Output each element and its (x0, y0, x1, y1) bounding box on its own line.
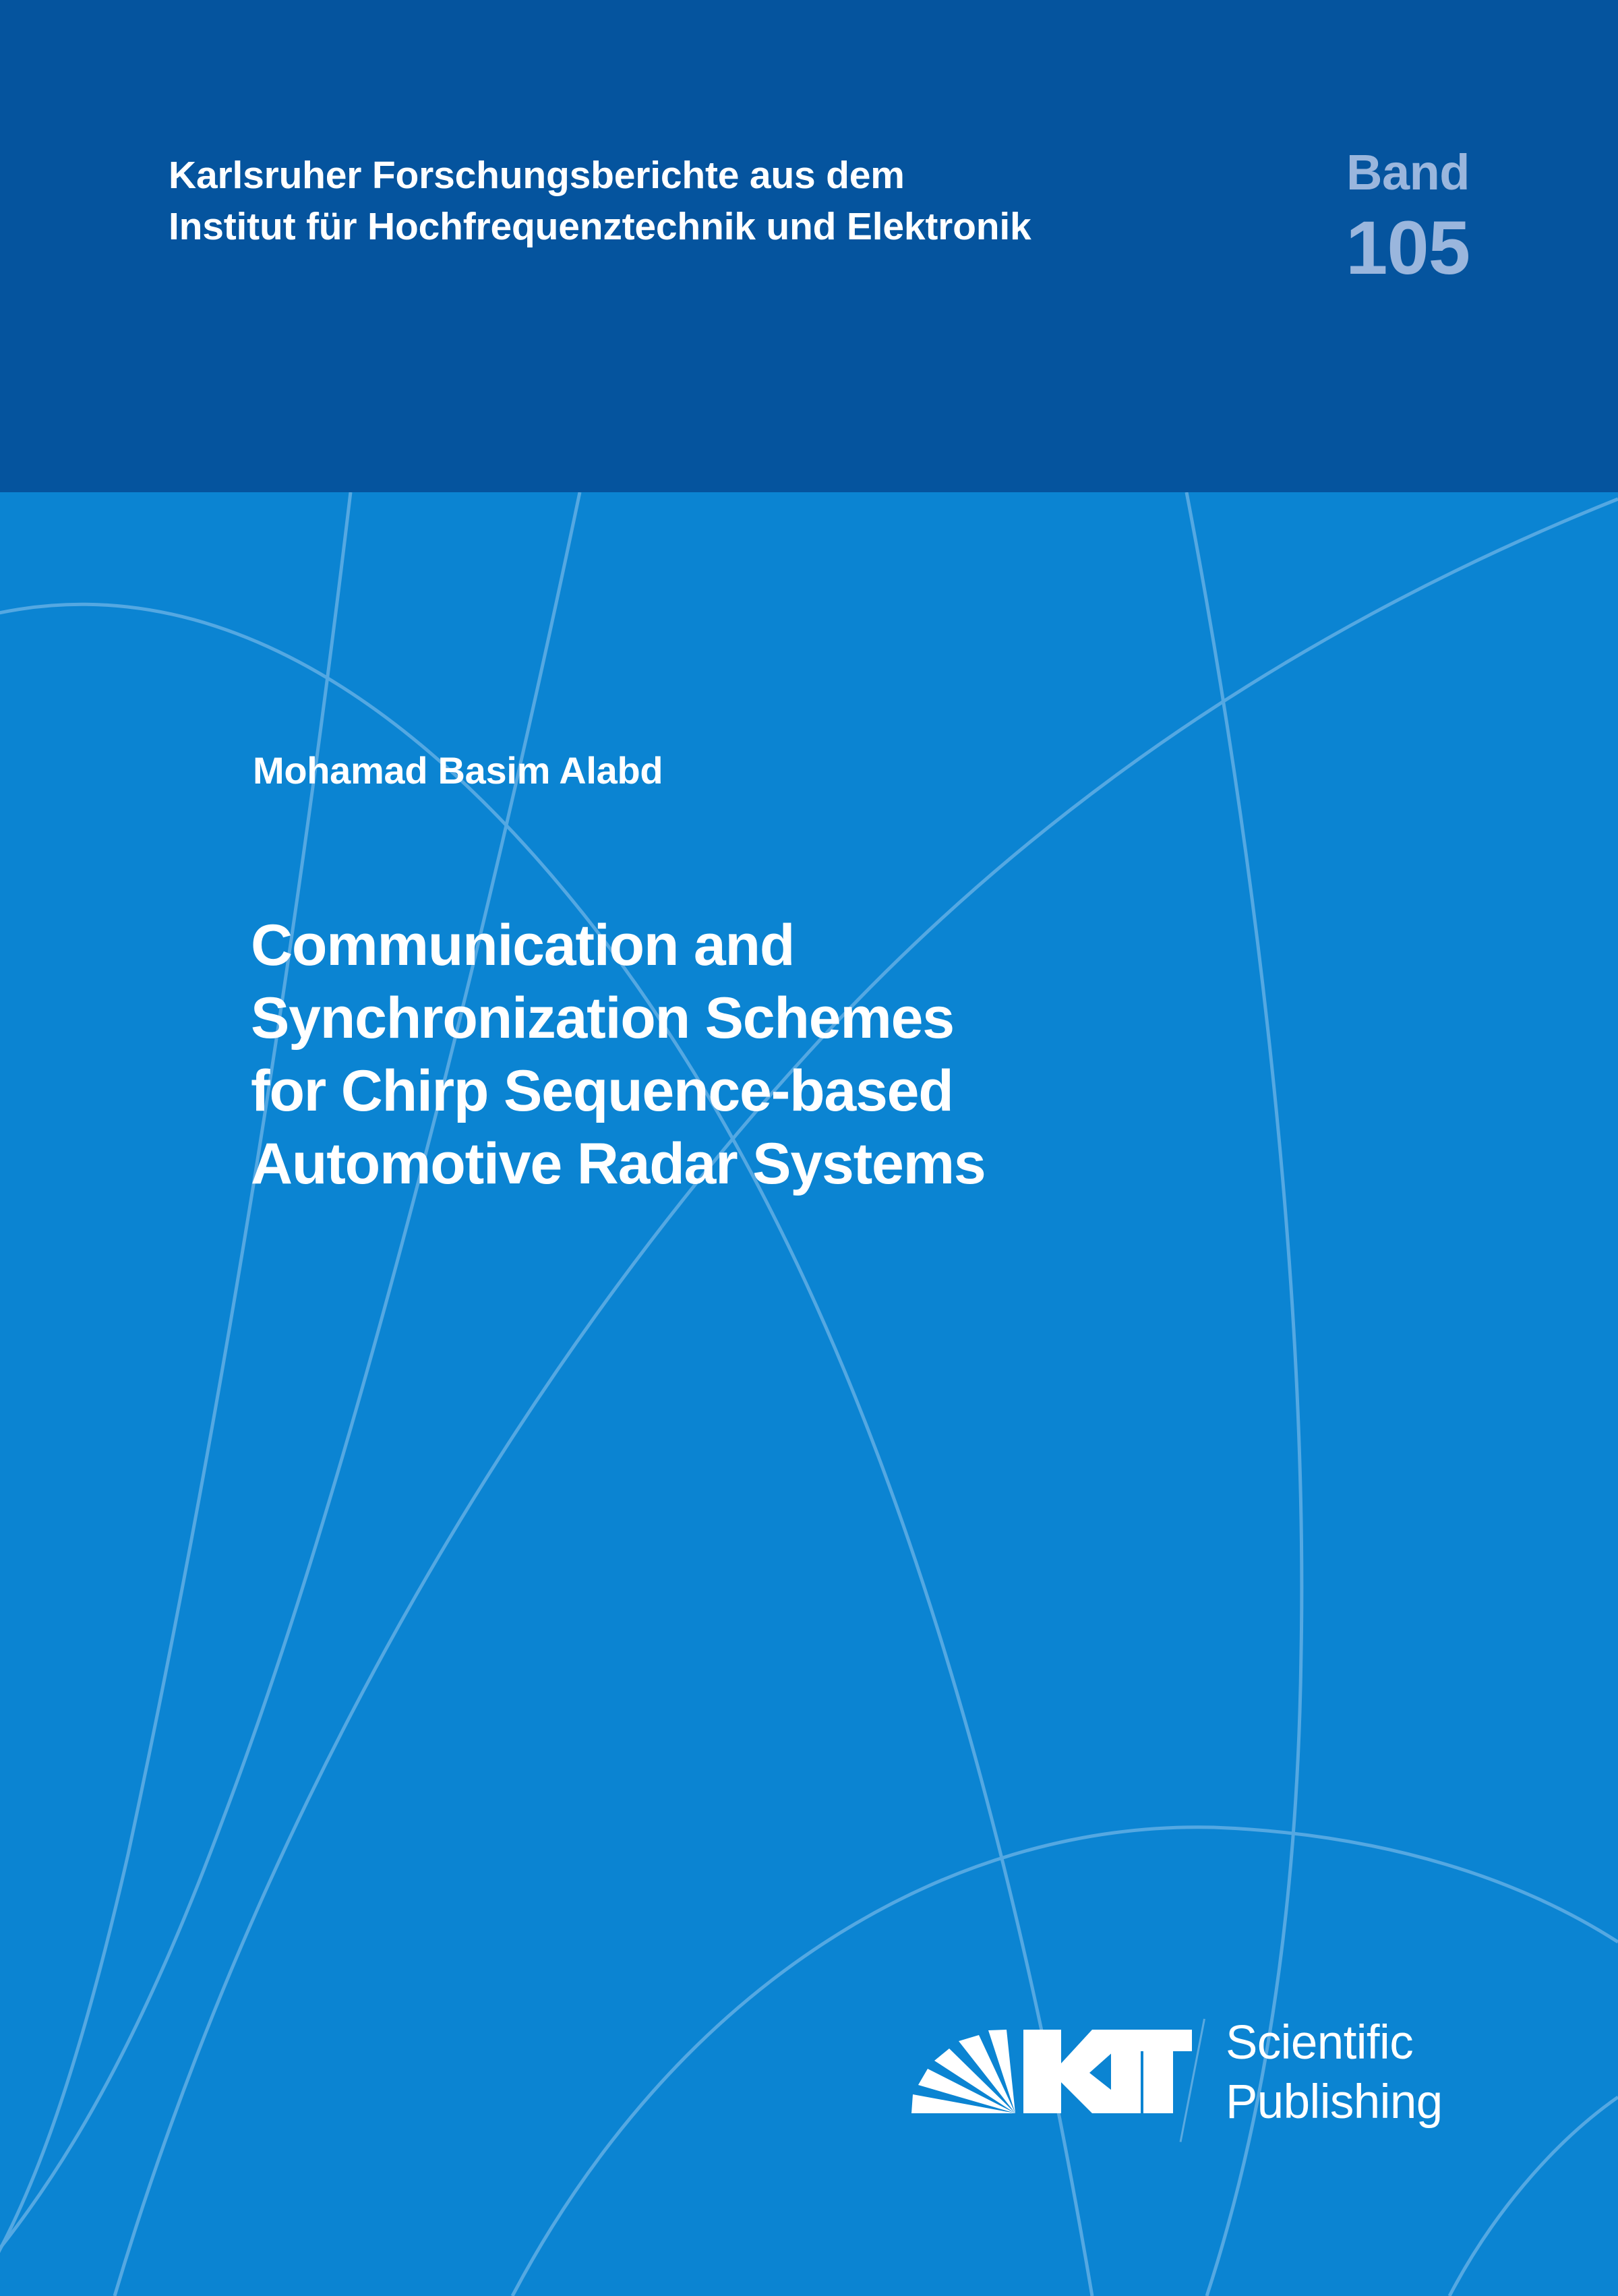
kit-letter-t (1134, 2030, 1192, 2113)
series-title-line-2: Institut für Hochfrequenztechnik und Ele… (169, 201, 1180, 252)
volume-label: Band (1267, 146, 1470, 200)
book-title-line-2: Synchronization Schemes (251, 982, 1329, 1055)
author-name: Mohamad Basim Alabd (253, 748, 663, 792)
book-title-line-1: Communication and (251, 909, 1329, 982)
volume-block: Band 105 (1267, 146, 1470, 289)
book-title-line-3: for Chirp Sequence-based (251, 1055, 1329, 1127)
book-title: Communication and Synchronization Scheme… (251, 909, 1329, 1200)
kit-logo-icon (909, 2028, 1192, 2116)
kit-scientific-publishing-logo: Scientific Publishing (909, 2023, 1502, 2165)
book-cover: Karlsruher Forschungsberichte aus dem In… (0, 0, 1618, 2296)
publisher-name: Scientific Publishing (1226, 2013, 1509, 2132)
publisher-name-line-2: Publishing (1226, 2073, 1509, 2132)
book-title-line-4: Automotive Radar Systems (251, 1127, 1329, 1200)
series-title: Karlsruher Forschungsberichte aus dem In… (169, 150, 1180, 252)
publisher-name-line-1: Scientific (1226, 2013, 1509, 2073)
series-title-line-1: Karlsruher Forschungsberichte aus dem (169, 150, 1180, 201)
volume-number: 105 (1267, 208, 1470, 289)
